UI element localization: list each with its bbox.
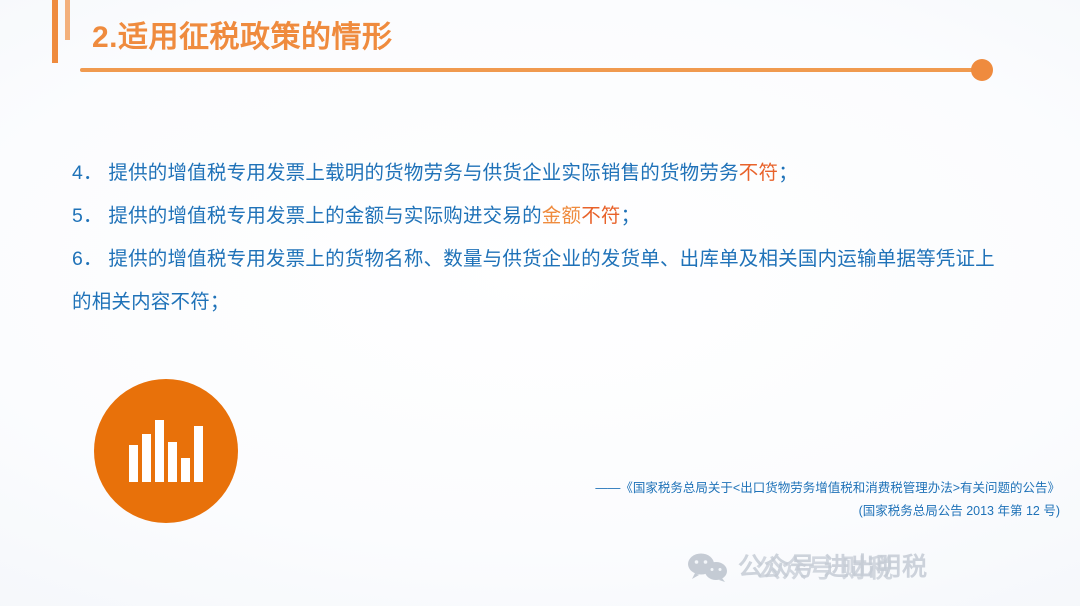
citation-line-2: (国家税务总局公告 2013 年第 12 号) [420, 501, 1060, 522]
list-item: 4． 提供的增值税专用发票上载明的货物劳务与供货企业实际销售的货物劳务不符； [72, 152, 1007, 195]
bar-chart-bar [129, 445, 138, 482]
bar-chart-bars [129, 420, 203, 482]
title-rule-end-dot [971, 59, 993, 81]
list-item-text: 不符 [739, 162, 778, 184]
slide-canvas: 2.适用征税政策的情形 4． 提供的增值税专用发票上载明的货物劳务与供货企业实际… [0, 0, 1080, 606]
bar-chart-icon [94, 379, 238, 523]
bar-chart-bar [155, 420, 164, 482]
list-item-text: 金额 [542, 205, 581, 227]
list-item-text: 提供的增值税专用发票上的金额与实际购进交易的 [108, 205, 541, 227]
bar-chart-bar [181, 458, 190, 482]
watermark: 公众号 进出明税 公众号 财税 [686, 543, 1076, 591]
list-item-text: ； [621, 205, 641, 227]
list-item-number: 6． [72, 248, 108, 270]
list-item-number: 4． [72, 162, 108, 184]
bar-chart-bar [142, 434, 151, 482]
title-underline-rule [80, 68, 985, 72]
list-item: 6． 提供的增值税专用发票上的货物名称、数量与供货企业的发货单、出库单及相关国内… [72, 238, 1007, 324]
bar-chart-bar [168, 442, 177, 482]
list-item-number: 5． [72, 205, 108, 227]
list-item-text: 不符 [581, 205, 620, 227]
list-item: 5． 提供的增值税专用发票上的金额与实际购进交易的金额不符； [72, 195, 1007, 238]
list-item-text: 提供的增值税专用发票上的货物名称、数量与供货企业的发货单、出库单及相关国内运输单… [72, 248, 995, 313]
bar-chart-bar [194, 426, 203, 482]
page-title: 2.适用征税政策的情形 [92, 12, 393, 56]
citation-line-1: ——《国家税务总局关于<出口货物劳务增值税和消费税管理办法>有关问题的公告》 [420, 478, 1060, 499]
accent-bar-tall [52, 0, 58, 63]
list-item-text: 提供的增值税专用发票上载明的货物劳务与供货企业实际销售的货物劳务 [108, 162, 738, 184]
source-citation: ——《国家税务总局关于<出口货物劳务增值税和消费税管理办法>有关问题的公告》 (… [420, 478, 1060, 522]
accent-bar-short [65, 0, 70, 40]
list-item-text: ； [778, 162, 798, 184]
watermark-text-secondary: 公众号 财税 [756, 549, 894, 585]
wechat-icon [686, 552, 730, 582]
body-content: 4． 提供的增值税专用发票上载明的货物劳务与供货企业实际销售的货物劳务不符； 5… [72, 152, 1007, 324]
